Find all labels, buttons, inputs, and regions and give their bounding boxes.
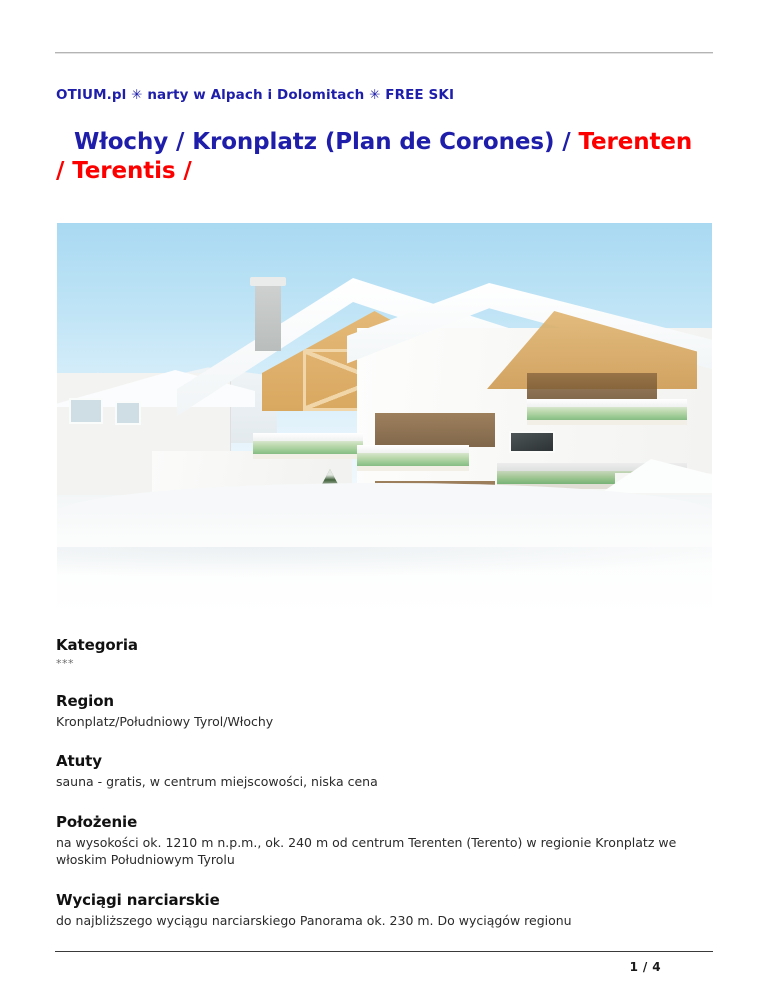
section-heading: Położenie <box>56 813 716 832</box>
detail-sections: Kategoria *** Region Kronplatz/Południow… <box>56 636 716 930</box>
section-polozenie: Położenie na wysokości ok. 1210 m n.p.m.… <box>56 813 716 869</box>
section-wyciagi-narciarskie: Wyciągi narciarskie do najbliższego wyci… <box>56 891 716 930</box>
snow-drift <box>57 547 712 589</box>
page-number: 1 / 4 <box>55 960 713 974</box>
hotel-photo <box>57 223 712 615</box>
header-divider <box>55 52 713 53</box>
page-title: Włochy / Kronplatz (Plan de Corones) / T… <box>56 128 716 187</box>
section-heading: Wyciągi narciarskie <box>56 891 716 910</box>
balcony-railing-l3 <box>357 449 469 471</box>
balcony-railing-r1 <box>527 403 687 425</box>
footer-divider <box>55 951 713 952</box>
section-atuty: Atuty sauna - gratis, w centrum miejscow… <box>56 752 716 791</box>
wing-window-1 <box>509 431 555 453</box>
document-page: OTIUM.pl ✳ narty w Alpach i Dolomitach ✳… <box>0 0 768 994</box>
chimney <box>255 281 281 351</box>
section-body: na wysokości ok. 1210 m n.p.m., ok. 240 … <box>56 834 716 870</box>
section-body: sauna - gratis, w centrum miejscowości, … <box>56 773 716 791</box>
photo-canvas <box>57 223 712 615</box>
section-heading: Kategoria <box>56 636 716 655</box>
section-region: Region Kronplatz/Południowy Tyrol/Włochy <box>56 692 716 731</box>
title-resort: Kronplatz (Plan de Corones) / <box>192 129 570 155</box>
balcony-railing-l1 <box>253 437 363 459</box>
annex-window-1 <box>69 398 103 424</box>
title-country: Włochy / <box>74 129 192 155</box>
section-heading: Region <box>56 692 716 711</box>
title-place-alt: / Terentis / <box>56 158 192 184</box>
section-kategoria: Kategoria *** <box>56 636 716 670</box>
section-body: do najbliższego wyciągu narciarskiego Pa… <box>56 912 716 930</box>
title-place: Terenten <box>571 129 693 155</box>
category-stars: *** <box>56 657 716 670</box>
annex-window-2 <box>115 401 141 425</box>
section-heading: Atuty <box>56 752 716 771</box>
loggia-recess-1 <box>375 413 495 447</box>
section-body: Kronplatz/Południowy Tyrol/Włochy <box>56 713 716 731</box>
site-brand-line: OTIUM.pl ✳ narty w Alpach i Dolomitach ✳… <box>56 87 454 103</box>
chimney-cap <box>250 277 286 286</box>
